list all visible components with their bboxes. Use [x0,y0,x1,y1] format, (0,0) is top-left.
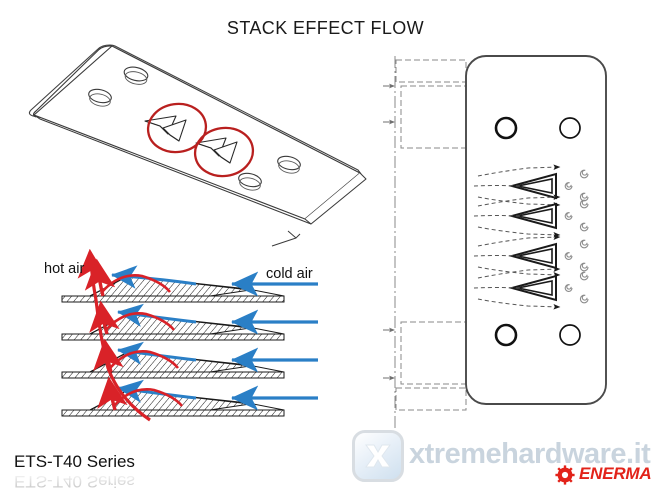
series-name: ETS-T40 Series [14,452,214,472]
cold-air-label: cold air [266,266,313,282]
series-name-block: ETS-T40 Series ETS-T40 Series [14,452,214,492]
isometric-fin-plate [29,45,366,246]
plan-fin-plate [383,56,606,428]
watermark: xtremehardware.it [352,428,648,490]
hot-air-label: hot air [44,261,84,277]
series-name-reflection: ETS-T40 Series [14,471,135,491]
x-logo-icon [352,430,404,482]
construction-rect-bottom-2 [396,388,466,410]
enermax-brand-text: ENERMAX [579,464,651,484]
construction-rect-top-1 [396,60,466,82]
plan-plate-outline [466,56,606,404]
technical-drawing [0,0,651,491]
gear-icon [555,465,575,485]
construction-rect-top-2 [401,86,466,148]
diagram-canvas: STACK EFFECT FLOW [0,0,651,491]
construction-rect-bottom-1 [401,322,466,384]
